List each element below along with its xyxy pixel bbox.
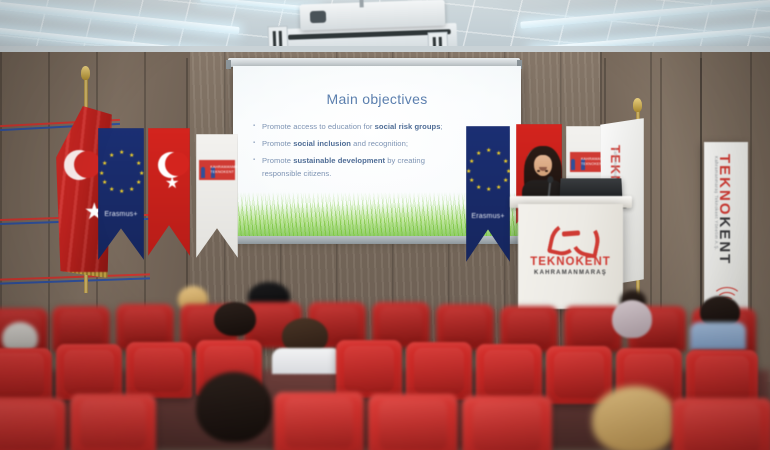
conference-hall-photo: Main objectives Promote access to educat… — [0, 0, 770, 450]
attendee-head — [214, 302, 256, 336]
bullet-pre: Promote access to education for — [262, 122, 375, 131]
bullet-post: by creating — [385, 156, 425, 165]
attendee-shirt — [272, 348, 342, 374]
flag-finial-icon — [81, 66, 90, 80]
podium-name: TEKNOKENT — [518, 256, 623, 268]
eu-stars-icon: ★★★ ★★★ ★★★ ★★★ — [466, 148, 510, 192]
attendee-shirt — [690, 322, 746, 350]
seat — [0, 348, 52, 402]
attendee-head-front — [196, 372, 272, 442]
seat — [406, 342, 472, 400]
eye — [537, 170, 540, 172]
seat — [462, 396, 552, 450]
seat — [126, 342, 192, 398]
presenter-face — [534, 155, 552, 176]
ceiling-projector — [300, 0, 446, 31]
seat — [70, 394, 156, 450]
bullet-pre: Promote — [262, 139, 293, 148]
attendee-head-front — [592, 386, 678, 450]
bullet-post: ; — [441, 122, 443, 131]
attendee-headscarf — [612, 300, 652, 338]
flag-finial-icon — [633, 98, 642, 112]
erasmus-label: Erasmus+ — [98, 211, 144, 218]
crescent-cut — [74, 151, 101, 178]
eye — [545, 170, 548, 172]
seat — [546, 346, 612, 404]
projector-mount — [359, 0, 363, 7]
erasmus-label: Erasmus+ — [466, 213, 510, 220]
teknokent-logo-icon — [550, 222, 592, 248]
podium-subtitle: KAHRAMANMARAŞ — [518, 270, 623, 276]
seat — [0, 398, 66, 450]
bullet-post: and recognition; — [351, 139, 408, 148]
bullet-bold: social risk groups — [375, 122, 441, 131]
eu-stars-icon: ★★★ ★★★ ★★★ ★★★ — [99, 150, 143, 194]
banner-subtitle: Kahramanmaraş Teknokent Yönetim A.Ş. — [714, 156, 719, 251]
seat — [336, 340, 402, 398]
projector-lens — [310, 11, 326, 24]
logo-wing-right — [566, 219, 602, 258]
star-icon: ★ — [165, 176, 179, 192]
bullet-pre: Promote — [262, 156, 293, 165]
seat — [274, 392, 364, 450]
bullet-bold: social inclusion — [293, 139, 351, 148]
bullet-bold: sustainable development — [293, 156, 385, 165]
slide-title: Main objectives — [233, 91, 521, 107]
seat — [476, 344, 542, 402]
teknokent-wall-banner: TEKNOKENT Kahramanmaraş Teknokent Yöneti… — [704, 142, 748, 317]
podium: TEKNOKENT KAHRAMANMARAŞ — [518, 204, 623, 309]
seat — [56, 344, 122, 400]
seat — [368, 394, 458, 450]
seat — [672, 398, 770, 450]
pennant-logo-text: KAHRAMANMARAŞ TEKNOKENT — [210, 165, 238, 174]
